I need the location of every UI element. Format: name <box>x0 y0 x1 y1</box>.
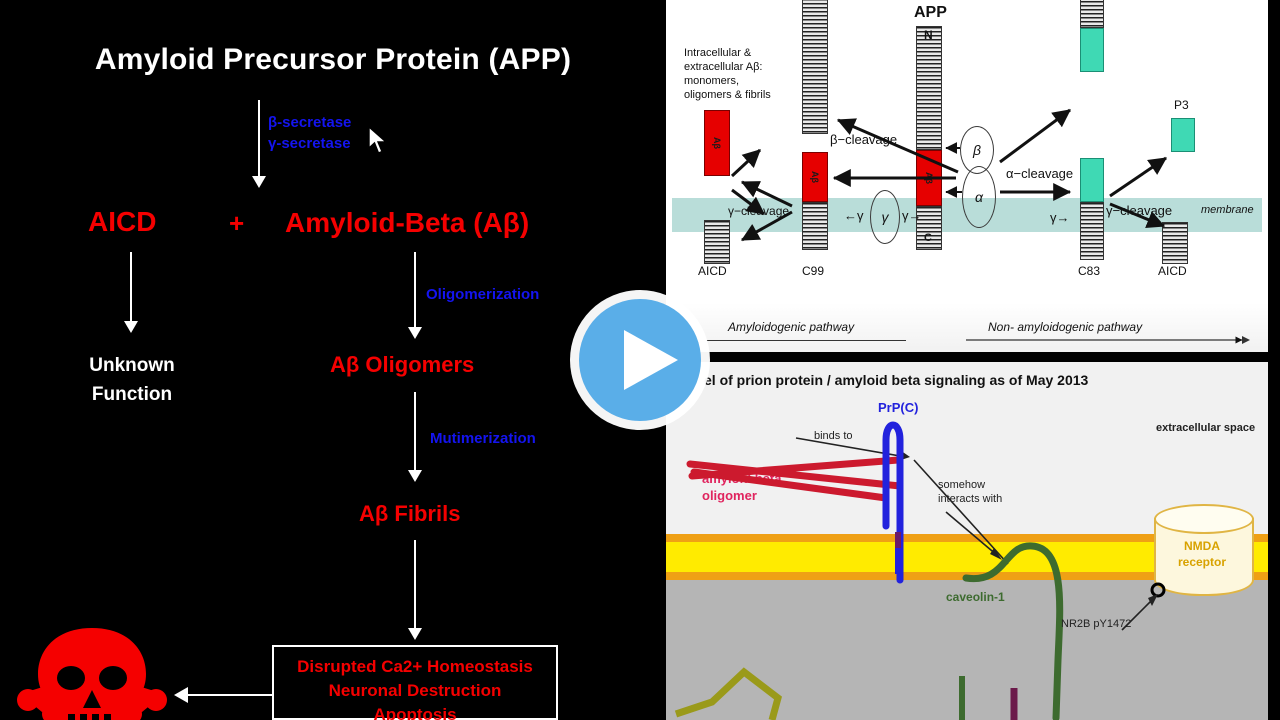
top-diagram-arrows <box>666 0 1268 352</box>
slide-right-panels: membrane Intracellular & extracellular A… <box>666 0 1280 720</box>
abeta-oligomers-label: Aβ Oligomers <box>330 352 474 378</box>
arrow-aicd-to-function <box>130 252 132 324</box>
gamma-secretase-label: γ-secretase <box>268 133 351 154</box>
extracellular-space-label: extracellular space <box>1156 422 1255 434</box>
skull-and-crossbones-icon <box>12 628 172 720</box>
unknown-function-label: Unknown Function <box>72 351 192 409</box>
multimerization-label: Mutimerization <box>430 430 536 447</box>
arrow-app-to-products <box>258 100 260 178</box>
video-player-frame: Amyloid Precursor Protein (APP) β-secret… <box>0 0 1280 720</box>
outcome-line-2: Neuronal Destruction <box>274 679 556 703</box>
amyloidogenic-pathway-label: Amyloidogenic pathway <box>728 320 854 334</box>
arrow-outcome-to-death <box>188 694 272 696</box>
nmda-label-line2: receptor <box>1154 554 1250 570</box>
play-button[interactable] <box>568 288 712 432</box>
outcome-box: Disrupted Ca2+ Homeostasis Neuronal Dest… <box>272 645 558 720</box>
amyloidogenic-pathway-line <box>706 340 906 341</box>
mouse-pointer-icon <box>368 126 390 156</box>
arrow-fibrils-to-outcome <box>414 540 416 630</box>
prion-signaling-diagram: el of prion protein / amyloid beta signa… <box>666 362 1268 720</box>
nr2b-label: NR2B pY1472 <box>1061 618 1131 630</box>
arrow-abeta-to-oligomers <box>414 252 416 330</box>
diagram-title: el of prion protein / amyloid beta signa… <box>704 372 1088 388</box>
intracellular-proteins <box>666 642 1268 720</box>
arrowhead-outcome-to-death <box>174 687 188 703</box>
nmda-receptor-label: NMDA receptor <box>1154 538 1250 570</box>
arrowhead-oligomers-to-fibrils <box>408 470 422 482</box>
app-processing-diagram: membrane Intracellular & extracellular A… <box>666 0 1268 352</box>
nmda-receptor-top <box>1154 504 1254 534</box>
arrowhead-abeta-to-oligomers <box>408 327 422 339</box>
secretase-labels: β-secretase γ-secretase <box>268 112 351 154</box>
arrowhead-app-to-products <box>252 176 266 188</box>
outcome-line-1: Disrupted Ca2+ Homeostasis <box>274 655 556 679</box>
unknown-function-line2: Function <box>72 380 192 409</box>
slide-left-panel: Amyloid Precursor Protein (APP) β-secret… <box>0 0 666 720</box>
outcome-line-3: Apoptosis <box>274 703 556 720</box>
unknown-function-line1: Unknown <box>72 351 192 380</box>
prp-c-membrane-anchor <box>892 532 908 580</box>
nr2b-phospho-site <box>1118 584 1178 644</box>
arrowhead-fibrils-to-outcome <box>408 628 422 640</box>
plus-operator: + <box>229 208 244 239</box>
page-title: Amyloid Precursor Protein (APP) <box>0 43 666 77</box>
amyloid-beta-label: Amyloid-Beta (Aβ) <box>285 207 529 239</box>
frame-right-border <box>1268 0 1280 720</box>
arrow-oligomers-to-fibrils <box>414 392 416 472</box>
non-amyloidogenic-pathway-arrow <box>966 332 1256 348</box>
prp-c-label: PrP(C) <box>878 400 918 415</box>
oligomerization-label: Oligomerization <box>426 286 539 303</box>
abeta-fibrils-label: Aβ Fibrils <box>359 501 460 527</box>
aicd-label: AICD <box>88 206 156 238</box>
nmda-label-line1: NMDA <box>1154 538 1250 554</box>
beta-secretase-label: β-secretase <box>268 112 351 133</box>
caveolin-1-label: caveolin-1 <box>946 590 1005 604</box>
arrowhead-aicd-to-function <box>124 321 138 333</box>
